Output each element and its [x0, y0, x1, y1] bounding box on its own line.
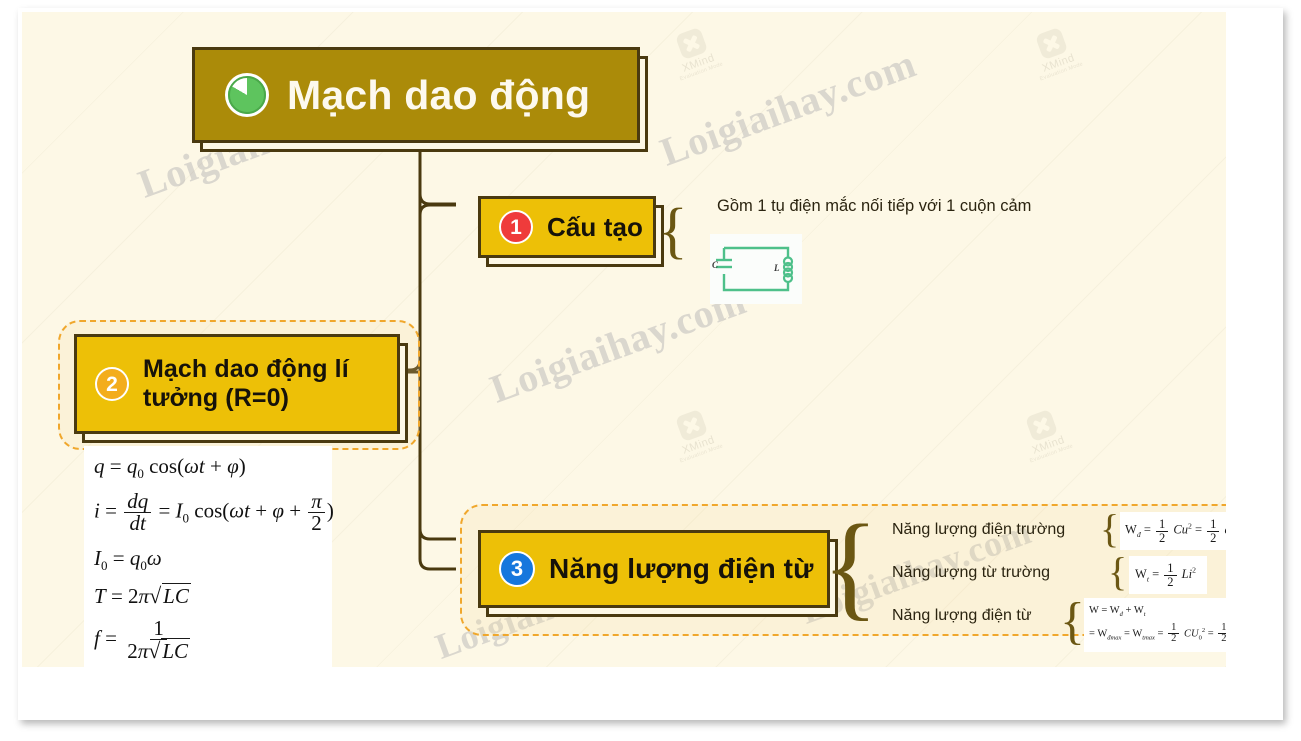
- formula-chip-dien-tu: W = Wđ + Wt = Wđmax = Wtmax = 12 CU02 = …: [1084, 598, 1226, 652]
- formula-line-q: q = q0 cos(ωt + φ): [94, 454, 332, 482]
- branch-node-nang-luong[interactable]: 3 Năng lượng điện từ: [478, 530, 830, 608]
- branch-badge-2: 2: [95, 367, 129, 401]
- branch-node-cau-tao[interactable]: 1 Cấu tạo: [478, 196, 656, 258]
- branch-1-detail-text: Gồm 1 tụ điện mắc nối tiếp với 1 cuộn cả…: [717, 197, 1031, 216]
- branch-node-body[interactable]: 2 Mạch dao động lí tưởng (R=0): [74, 334, 400, 434]
- formula-line-f: f = 12π√LC: [94, 618, 332, 662]
- formula-chip-dien-truong: Wđ = 12 Cu2 = 12 qu = 12. q2C: [1120, 512, 1226, 550]
- formula-line-i: i = dqdt = I0 cos(ωt + φ + π2): [94, 491, 332, 534]
- branch-title-1: Cấu tạo: [547, 212, 643, 243]
- branch-badge-1: 1: [499, 210, 533, 244]
- formula-line-I0: I0 = q0ω: [94, 546, 332, 574]
- screenshot-root: Loigiaihay.com Loigiaihay.com Loigiaihay…: [0, 0, 1301, 741]
- lc-circuit-figure: C L: [710, 234, 802, 304]
- branch-title-2: Mạch dao động lí tưởng (R=0): [143, 355, 397, 413]
- svg-text:L: L: [773, 263, 780, 273]
- branch-badge-3: 3: [499, 551, 535, 587]
- sub-label-dien-tu: Năng lượng điện từ: [892, 607, 1032, 625]
- pie-chart-icon: [225, 73, 269, 117]
- root-node[interactable]: Mạch dao động: [192, 47, 640, 143]
- root-node-body[interactable]: Mạch dao động: [192, 47, 640, 143]
- branch-node-mach-li-tuong[interactable]: 2 Mạch dao động lí tưởng (R=0): [74, 334, 400, 434]
- root-node-title: Mạch dao động: [287, 72, 590, 119]
- formula-panel: q = q0 cos(ωt + φ) i = dqdt = I0 cos(ωt …: [84, 446, 332, 680]
- formula-line-T: T = 2π√LC: [94, 583, 332, 609]
- svg-text:C: C: [712, 260, 719, 270]
- branch-node-body[interactable]: 1 Cấu tạo: [478, 196, 656, 258]
- branch-title-3: Năng lượng điện từ: [549, 553, 813, 585]
- formula-chip-tu-truong: Wt = 12 Li2: [1129, 556, 1207, 594]
- sub-label-dien-truong: Năng lượng điện trường: [892, 521, 1065, 539]
- branch-node-body[interactable]: 3 Năng lượng điện từ: [478, 530, 830, 608]
- sub-label-tu-truong: Năng lượng từ trường: [892, 564, 1050, 582]
